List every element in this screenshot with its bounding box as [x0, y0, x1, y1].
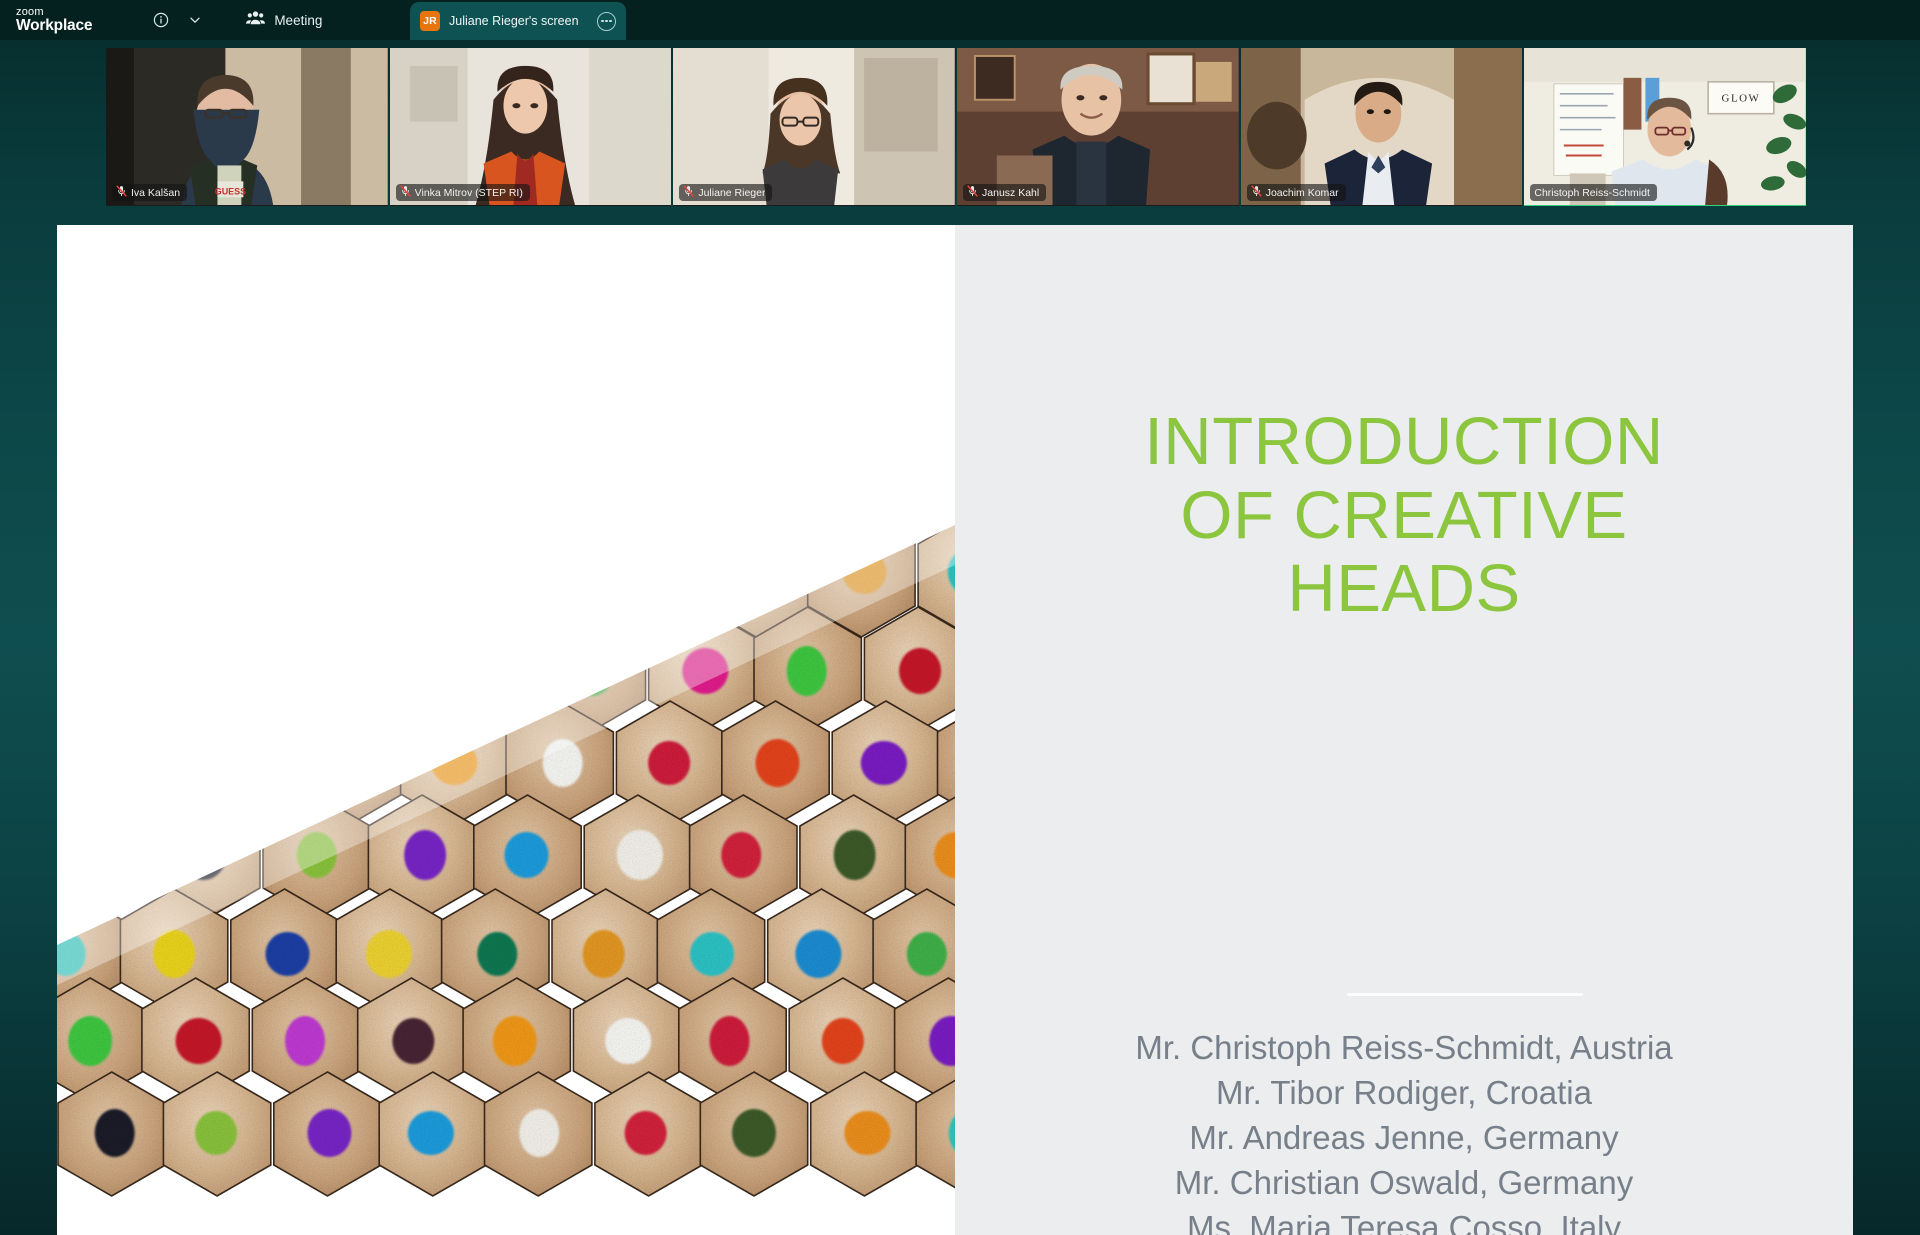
pencil-core — [907, 932, 947, 976]
participant-name: Vinka Mitrov (STEP RI) — [415, 187, 523, 199]
title-divider — [1347, 993, 1583, 996]
pencil-core — [625, 1111, 667, 1155]
participant-tile[interactable]: Juliane Rieger — [673, 48, 955, 206]
pencil-core — [366, 930, 412, 978]
pencil-core — [787, 646, 827, 696]
pencil-core — [861, 741, 907, 785]
pencil-core — [404, 830, 446, 880]
brand-workplace: Workplace — [16, 18, 92, 34]
page-title-line: INTRODUCTION — [955, 405, 1853, 479]
svg-text:GUESS: GUESS — [215, 186, 246, 196]
pencil-core — [755, 739, 799, 787]
pencil-core — [690, 932, 734, 976]
pencil-core — [899, 648, 941, 694]
creative-heads-list: Mr. Christoph Reiss-Schmidt, AustriaMr. … — [955, 1025, 1853, 1235]
participant-video — [1241, 48, 1523, 206]
participant-video: GLOW — [1524, 48, 1806, 206]
pencil-core — [153, 930, 195, 978]
pencil-core — [822, 1018, 864, 1064]
participant-video — [390, 48, 672, 206]
pencil-core — [493, 1016, 537, 1066]
pencil-core — [721, 832, 761, 878]
pencil-core — [583, 930, 625, 978]
colored-pencils-photo — [57, 225, 955, 1235]
pencil-core — [834, 830, 876, 880]
avatar: JR — [420, 11, 440, 31]
pencil-core — [477, 932, 517, 976]
pencil-core — [795, 930, 841, 978]
people-icon — [246, 10, 265, 31]
pencil-core — [617, 830, 663, 880]
participant-name: Iva Kalšan — [131, 187, 180, 199]
pencil-core — [307, 1109, 351, 1157]
pencil-core — [95, 1109, 135, 1157]
participant-video: GUESS — [106, 48, 388, 206]
participant-tile[interactable]: Janusz Kahl — [957, 48, 1239, 206]
participant-tile[interactable]: GLOW Christoph Reiss-Schmidt — [1524, 48, 1806, 206]
participant-name: Juliane Rieger — [698, 187, 765, 199]
participant-name-badge: Vinka Mitrov (STEP RI) — [396, 184, 530, 201]
participant-name-badge: Iva Kalšan — [112, 184, 187, 201]
pencil-core — [648, 741, 690, 785]
shared-screen-tab-label: Juliane Rieger's screen — [449, 14, 588, 28]
pencil-core — [504, 832, 548, 878]
pencil-core — [176, 1018, 222, 1064]
creative-head-name: Mr. Christoph Reiss-Schmidt, Austria — [955, 1025, 1853, 1070]
pencil-core — [519, 1109, 559, 1157]
shared-screen-tab[interactable]: JR Juliane Rieger's screen — [410, 2, 626, 40]
pencil-core — [408, 1111, 454, 1155]
microphone-muted-icon — [967, 184, 978, 202]
participant-name-badge: Juliane Rieger — [679, 184, 772, 201]
page-title-line: OF CREATIVE — [955, 479, 1853, 553]
pencil-core — [68, 1016, 112, 1066]
participant-name-badge: Christoph Reiss-Schmidt — [1530, 184, 1657, 201]
creative-head-name: Mr. Tibor Rodiger, Croatia — [955, 1070, 1853, 1115]
microphone-muted-icon — [1251, 184, 1262, 202]
participant-name: Christoph Reiss-Schmidt — [1534, 187, 1650, 199]
pencil-core — [710, 1016, 750, 1066]
microphone-muted-icon — [116, 184, 127, 202]
chevron-down-icon[interactable] — [182, 7, 208, 33]
page-title: INTRODUCTIONOF CREATIVEHEADS — [955, 405, 1853, 626]
meeting-tab-label: Meeting — [274, 13, 322, 28]
info-circle-icon[interactable] — [148, 7, 174, 33]
participant-tile[interactable]: GUESS Iva Kalšan — [106, 48, 388, 206]
pencil-core — [266, 932, 310, 976]
participant-video — [673, 48, 955, 206]
pencil-core — [844, 1111, 890, 1155]
pencil-core — [195, 1111, 237, 1155]
title-bar: zoom Workplace — [0, 0, 1920, 40]
pencil-core — [392, 1018, 434, 1064]
participant-filmstrip: GUESS Iva Kalšan Vinka Mitrov (STEP RI) — [106, 48, 1806, 206]
slide-image-panel — [57, 225, 955, 1235]
zoom-workplace-logo: zoom Workplace — [16, 7, 92, 34]
pencil-core — [605, 1018, 651, 1064]
meeting-tab[interactable]: Meeting — [246, 10, 322, 31]
svg-text:GLOW: GLOW — [1722, 93, 1761, 105]
microphone-muted-icon — [683, 184, 694, 202]
pencil-core — [732, 1109, 776, 1157]
participant-name-badge: Joachim Komar — [1247, 184, 1346, 201]
creative-head-name: Ms. Maria Teresa Cosso, Italy — [955, 1205, 1853, 1235]
page-title-line: HEADS — [955, 552, 1853, 626]
shared-screen-content: INTRODUCTIONOF CREATIVEHEADS Mr. Christo… — [57, 225, 1853, 1235]
pencil-core — [285, 1016, 325, 1066]
participant-tile[interactable]: Vinka Mitrov (STEP RI) — [390, 48, 672, 206]
zoom-meeting-window: zoom Workplace — [0, 0, 1920, 1235]
participant-name-badge: Janusz Kahl — [963, 184, 1046, 201]
creative-head-name: Mr. Andreas Jenne, Germany — [955, 1115, 1853, 1160]
creative-head-name: Mr. Christian Oswald, Germany — [955, 1160, 1853, 1205]
microphone-muted-icon — [400, 184, 411, 202]
participant-name: Joachim Komar — [1266, 187, 1339, 199]
more-options-icon[interactable] — [597, 12, 616, 31]
participant-name: Janusz Kahl — [982, 187, 1039, 199]
participant-video — [957, 48, 1239, 206]
participant-tile[interactable]: Joachim Komar — [1241, 48, 1523, 206]
